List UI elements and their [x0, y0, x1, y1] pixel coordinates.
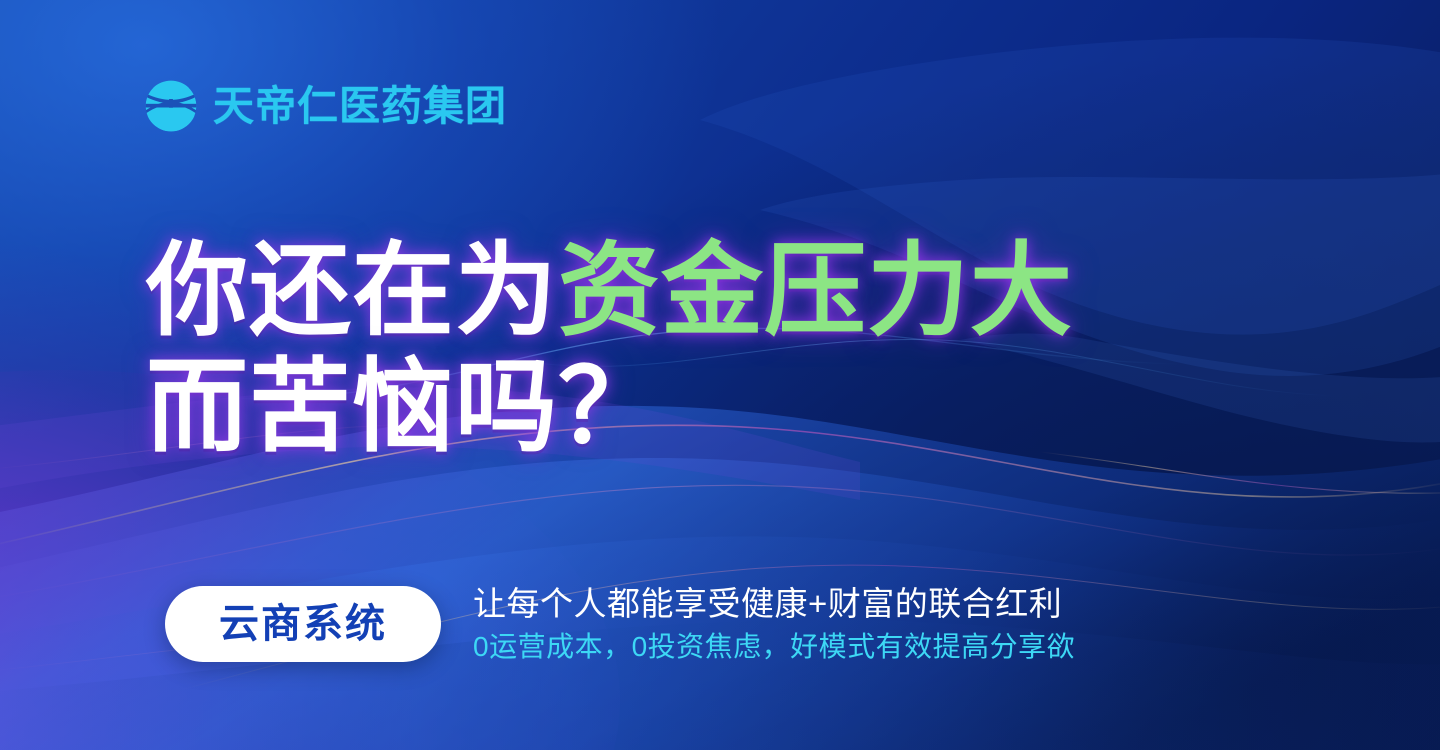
footer-row: 云商系统 让每个人都能享受健康+财富的联合红利 0运营成本，0投资焦虑，好模式有… — [165, 584, 1075, 664]
headline-plain-text: 你还在为 — [146, 234, 558, 348]
tagline-secondary: 0运营成本，0投资焦虑，好模式有效提高分享欲 — [473, 630, 1075, 664]
brand-logo: 天帝仁医药集团 — [143, 78, 507, 134]
globe-logo-icon — [143, 78, 199, 134]
headline: 你还在为资金压力大 而苦恼吗？ — [146, 236, 1206, 462]
headline-line-2: 而苦恼吗？ — [146, 352, 1206, 462]
cloud-system-badge[interactable]: 云商系统 — [165, 586, 441, 662]
promo-banner: 天帝仁医药集团 你还在为资金压力大 而苦恼吗？ 云商系统 让每个人都能享受健康+… — [0, 0, 1440, 750]
cloud-system-badge-label: 云商系统 — [219, 604, 387, 644]
tagline-block: 让每个人都能享受健康+财富的联合红利 0运营成本，0投资焦虑，好模式有效提高分享… — [473, 584, 1075, 664]
headline-highlight-text: 资金压力大 — [558, 234, 1073, 348]
headline-line-1: 你还在为资金压力大 — [146, 236, 1206, 346]
brand-name: 天帝仁医药集团 — [213, 86, 507, 127]
tagline-primary: 让每个人都能享受健康+财富的联合红利 — [473, 584, 1075, 624]
